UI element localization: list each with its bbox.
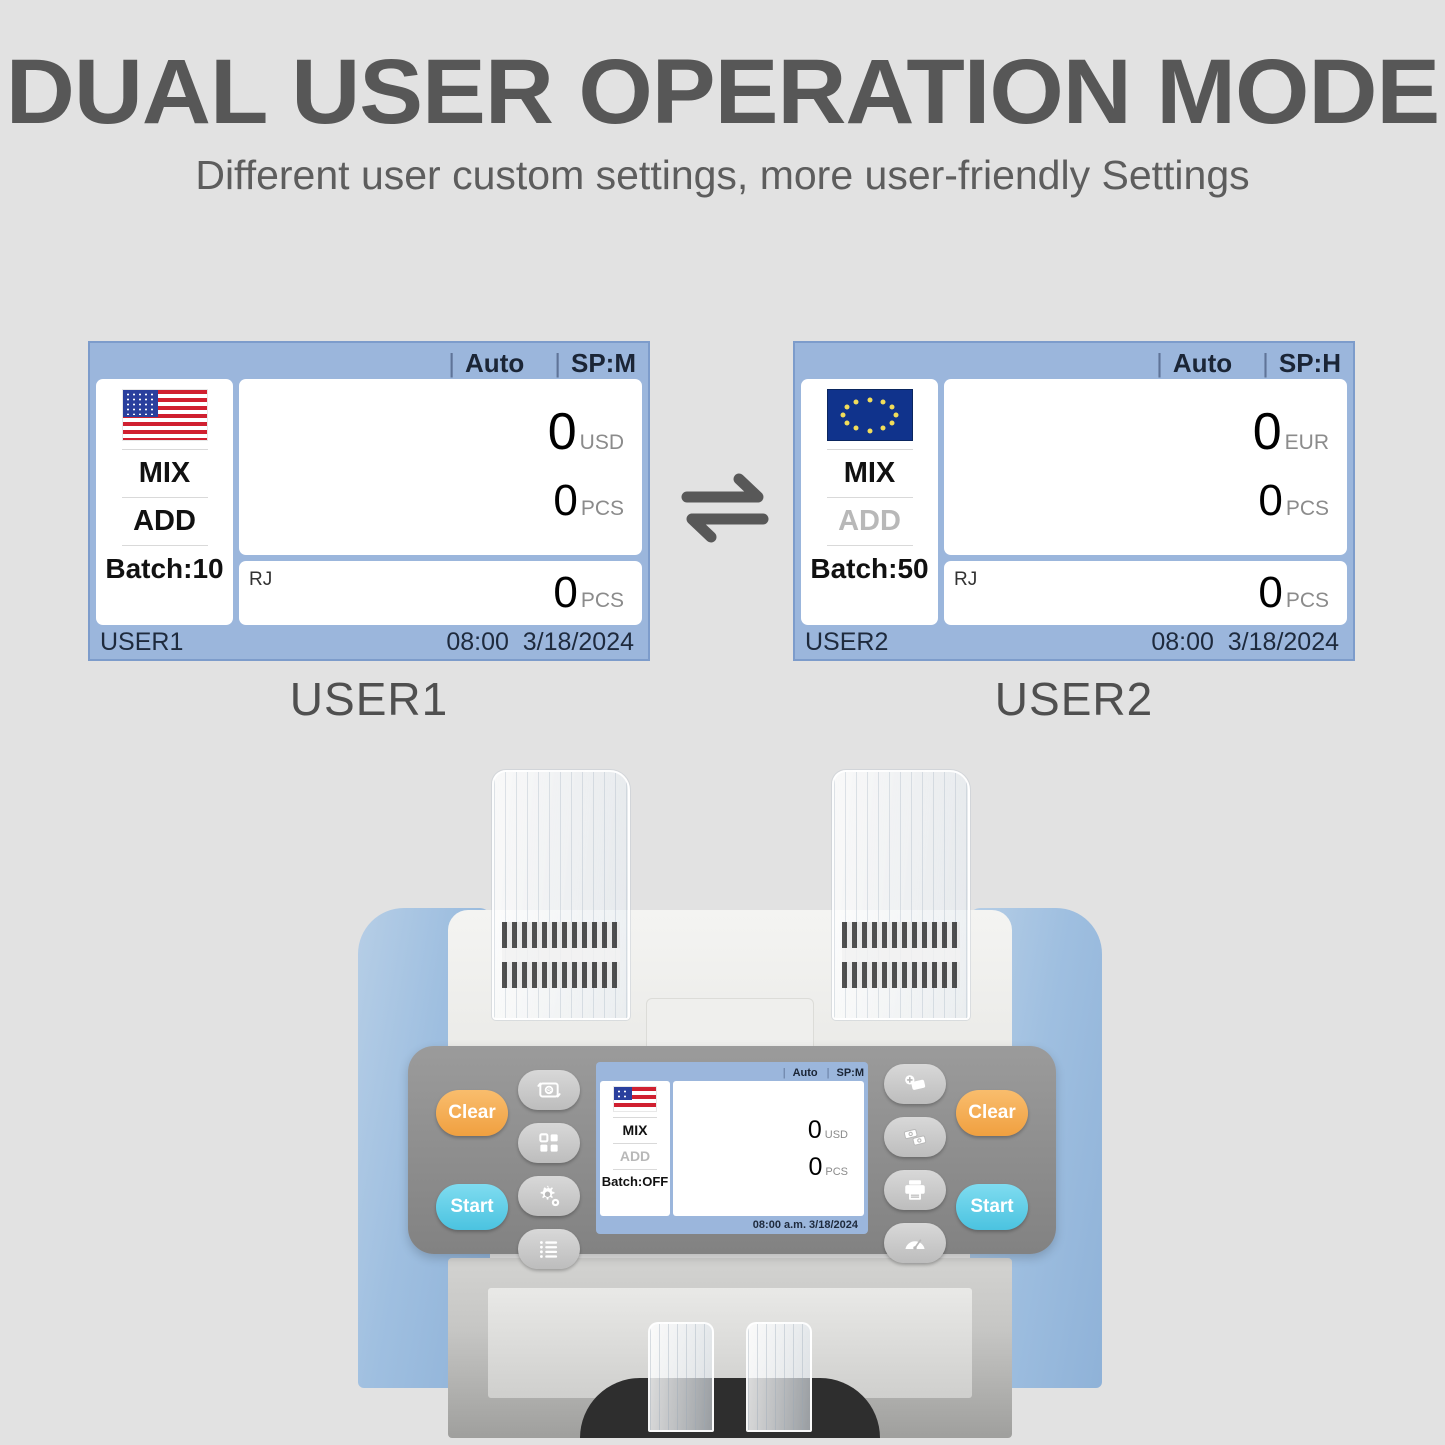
lcd1-statusbar: USER1 08:00 3/18/2024: [96, 625, 642, 659]
lcd2-reject-value: 0: [1258, 573, 1282, 613]
mix-banknote-icon-button[interactable]: [884, 1117, 946, 1157]
eu-flag-icon: [827, 389, 913, 441]
divider: [827, 545, 913, 546]
svg-text:S: S: [547, 1088, 552, 1095]
page-subtitle: Different user custom settings, more use…: [0, 152, 1445, 199]
eu-star: [854, 399, 859, 404]
divider: [122, 449, 208, 450]
lcd1-pieces-row: 0 PCS: [553, 481, 624, 521]
swap-horizontal-icon: [677, 468, 773, 548]
machine-lcd-screen: | Auto | SP:M MIX ADD Bat: [596, 1062, 868, 1234]
lcd2-pieces-row: 0 PCS: [1258, 481, 1329, 521]
divider: [122, 497, 208, 498]
lcd2-reject-unit: PCS: [1286, 589, 1329, 613]
lcd1-pieces-unit: PCS: [581, 497, 624, 521]
eu-star: [867, 397, 872, 402]
lcd2-speed-label: SP:H: [1279, 348, 1341, 379]
caption-user1: USER1: [88, 672, 650, 726]
lcd2-mode-column: MIX ADD Batch:50: [801, 379, 938, 625]
hopper-guide-right[interactable]: [832, 770, 970, 1020]
machine-lcd-divider-1: |: [783, 1067, 786, 1079]
add-banknote-icon-button[interactable]: [884, 1064, 946, 1104]
lcd1-auto-label: Auto: [465, 348, 524, 379]
lcd2-topbar: | Auto | SP:H: [801, 347, 1347, 379]
lcd1-amount-unit: USD: [580, 431, 624, 455]
printer-icon-button[interactable]: [884, 1170, 946, 1210]
divider: [827, 497, 913, 498]
eu-star: [890, 420, 895, 425]
machine-lcd-mode-add: ADD: [620, 1147, 650, 1166]
lcd-screen-user1: | Auto | SP:M MIX ADD Batch:10: [88, 341, 650, 661]
lcd1-pieces-value: 0: [553, 481, 577, 521]
lcd2-user-label: USER2: [805, 628, 888, 657]
lcd2-mode-mix: MIX: [844, 454, 896, 493]
machine-lcd-pieces-unit: PCS: [825, 1166, 848, 1178]
lcd1-mode-column: MIX ADD Batch:10: [96, 379, 233, 625]
grid-apps-icon-button[interactable]: [518, 1123, 580, 1163]
eu-star: [844, 405, 849, 410]
caption-user2: USER2: [793, 672, 1355, 726]
lcd-screen-user2: | Auto | SP:H MIX ADD Batch:50: [793, 341, 1355, 661]
add-banknote-icon: [902, 1071, 928, 1097]
hopper-guide-left[interactable]: [492, 770, 630, 1020]
machine-lcd-auto-label: Auto: [793, 1067, 818, 1079]
divider: [613, 1117, 657, 1118]
machine-lcd-topbar: | Auto | SP:M: [600, 1065, 864, 1081]
lcd2-batch-value: Batch:50: [810, 550, 928, 588]
lcd2-pieces-unit: PCS: [1286, 497, 1329, 521]
clear-button-left[interactable]: Clear: [436, 1090, 508, 1136]
machine-lcd-amount-unit: USD: [825, 1129, 848, 1141]
stacker-guide-left[interactable]: [648, 1322, 714, 1432]
lcd1-divider-2: |: [554, 348, 561, 379]
lcd2-time: 08:00: [1151, 628, 1214, 656]
money-counter-machine: Clear Start S: [340, 760, 1120, 1445]
lcd1-amount-value: 0: [548, 409, 577, 456]
us-flag-icon: [613, 1086, 657, 1112]
lcd2-amount-value: 0: [1253, 409, 1282, 456]
lcd1-mode-add: ADD: [133, 502, 196, 541]
eu-star: [893, 413, 898, 418]
lcd1-reject-value: 0: [553, 573, 577, 613]
lcd1-topbar: | Auto | SP:M: [96, 347, 642, 379]
machine-lcd-mode-column: MIX ADD Batch:OFF: [600, 1081, 670, 1216]
lcd2-auto-label: Auto: [1173, 348, 1232, 379]
lcd1-divider-1: |: [448, 348, 455, 379]
grid-apps-icon: [536, 1130, 562, 1156]
eu-star: [890, 405, 895, 410]
eu-star: [844, 420, 849, 425]
currency-exchange-icon-button[interactable]: S: [518, 1070, 580, 1110]
currency-exchange-icon: S: [536, 1077, 562, 1103]
gear-settings-icon: [536, 1183, 562, 1209]
lcd2-count-panel: 0 EUR 0 PCS: [944, 379, 1347, 555]
lcd1-time: 08:00: [446, 628, 509, 656]
us-flag-icon: [122, 389, 208, 441]
lcd2-divider-2: |: [1262, 348, 1269, 379]
gear-settings-icon-button[interactable]: [518, 1176, 580, 1216]
lcd2-divider-1: |: [1156, 348, 1163, 379]
start-button-left[interactable]: Start: [436, 1184, 508, 1230]
machine-lcd-mode-mix: MIX: [623, 1121, 648, 1140]
lcd1-reject-label: RJ: [249, 569, 272, 591]
lcd2-amount-row: 0 EUR: [1253, 409, 1329, 456]
lcd1-speed-label: SP:M: [571, 348, 636, 379]
lcd1-date: 3/18/2024: [523, 628, 634, 656]
lcd1-amount-row: 0 USD: [548, 409, 624, 456]
start-button-right[interactable]: Start: [956, 1184, 1028, 1230]
lcd2-statusbar: USER2 08:00 3/18/2024: [801, 625, 1347, 659]
divider: [613, 1169, 657, 1170]
list-menu-icon-button[interactable]: [518, 1229, 580, 1269]
lcd2-reject-label: RJ: [954, 569, 977, 591]
control-panel: Clear Start S: [408, 1046, 1056, 1254]
clear-button-right[interactable]: Clear: [956, 1090, 1028, 1136]
eu-star: [880, 399, 885, 404]
lcd1-batch-value: Batch:10: [105, 550, 223, 588]
lcd1-count-panel: 0 USD 0 PCS: [239, 379, 642, 555]
machine-lcd-statusbar: 08:00 a.m. 3/18/2024: [600, 1216, 864, 1234]
mix-banknote-icon: [902, 1124, 928, 1150]
product-infographic: DUAL USER OPERATION MODE Different user …: [0, 0, 1445, 1445]
eu-star: [854, 426, 859, 431]
lcd1-reject-panel: RJ 0 PCS: [239, 561, 642, 625]
page-title: DUAL USER OPERATION MODE: [0, 40, 1445, 145]
lcd1-mode-mix: MIX: [139, 454, 191, 493]
lcd2-date: 3/18/2024: [1228, 628, 1339, 656]
output-tray: [448, 1258, 1012, 1438]
machine-lcd-divider-2: |: [827, 1067, 830, 1079]
stacker-guide-right[interactable]: [746, 1322, 812, 1432]
divider: [827, 449, 913, 450]
machine-lcd-speed-label: SP:M: [837, 1067, 865, 1079]
machine-lcd-count-panel: 0 USD 0 PCS: [673, 1081, 864, 1216]
divider: [613, 1143, 657, 1144]
lcd2-pieces-value: 0: [1258, 481, 1282, 521]
lcd1-user-label: USER1: [100, 628, 183, 657]
eu-star: [841, 413, 846, 418]
lcd1-reject-unit: PCS: [581, 589, 624, 613]
divider: [122, 545, 208, 546]
lcd2-mode-add: ADD: [838, 502, 901, 541]
machine-lcd-pieces-value: 0: [808, 1156, 822, 1179]
machine-lcd-batch-value: Batch:OFF: [602, 1173, 668, 1191]
machine-lcd-amount-value: 0: [808, 1119, 822, 1142]
lcd2-reject-panel: RJ 0 PCS: [944, 561, 1347, 625]
speed-gauge-icon: [902, 1230, 928, 1256]
eu-star: [867, 428, 872, 433]
list-menu-icon: [536, 1236, 562, 1262]
lcd2-amount-unit: EUR: [1285, 431, 1329, 455]
speed-gauge-icon-button[interactable]: [884, 1223, 946, 1263]
printer-icon: [902, 1177, 928, 1203]
eu-star: [880, 426, 885, 431]
